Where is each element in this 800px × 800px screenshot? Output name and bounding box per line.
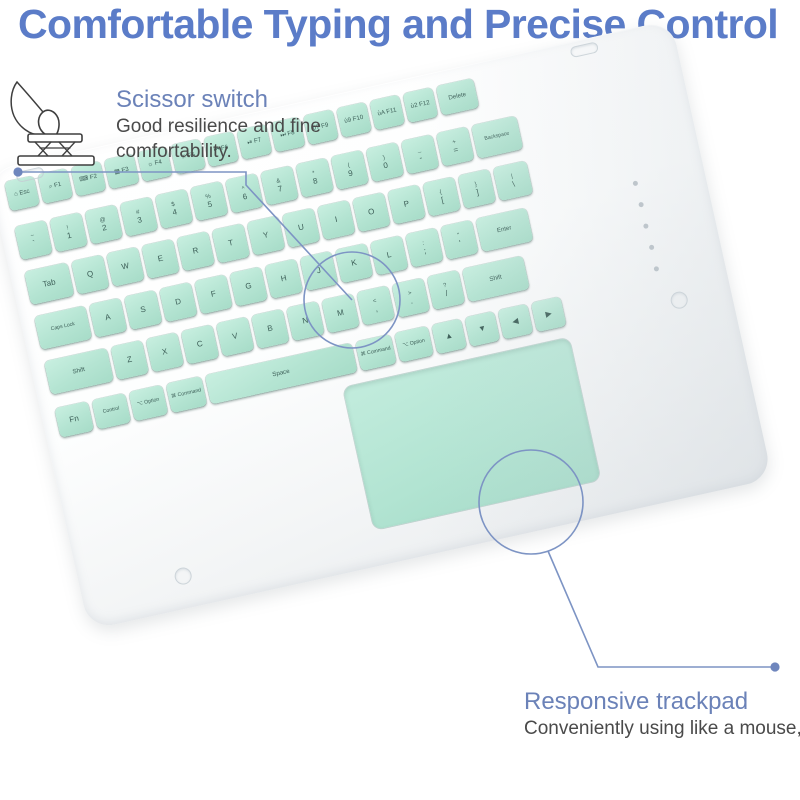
key-legend: Tab <box>42 278 56 289</box>
key-p[interactable]: P <box>387 184 426 224</box>
key-command[interactable]: ⌘ Command <box>166 376 208 413</box>
key-legend: D <box>175 298 182 307</box>
key-legend: ⌨ F2 <box>79 174 98 184</box>
key-legend: ⌘ Command <box>171 389 202 401</box>
key-legend-bottom: / <box>445 289 449 297</box>
key-legend: ⌕ F1 <box>48 182 61 191</box>
key-legend: J <box>316 267 322 276</box>
scissor-switch-heading: Scissor switch <box>116 86 416 114</box>
key-7[interactable]: &7 <box>260 165 299 205</box>
key-2[interactable]: @2 <box>84 204 123 244</box>
key-legend: X <box>161 348 168 357</box>
key-e[interactable]: E <box>141 239 180 279</box>
key-b[interactable]: B <box>251 309 290 349</box>
key-legend: Backspace <box>484 132 510 143</box>
key-s[interactable]: S <box>124 290 163 330</box>
key-6[interactable]: ^6 <box>225 173 264 213</box>
key-legend: ⌂ Esc <box>14 189 31 198</box>
scissor-switch-icon <box>4 78 110 170</box>
key-legend-bottom: ] <box>476 188 480 196</box>
key-key[interactable]: |\ <box>493 161 534 202</box>
status-led-1 <box>633 181 638 186</box>
key-right[interactable]: ▶ <box>531 296 567 332</box>
key-command[interactable]: ⌘ Command <box>355 334 397 371</box>
key-shift[interactable]: Shift <box>44 348 114 395</box>
key-5[interactable]: %5 <box>190 181 229 221</box>
key-shift[interactable]: Shift <box>462 256 530 303</box>
key-g[interactable]: G <box>229 266 268 306</box>
key-legend: U <box>297 223 304 232</box>
key-legend-bottom: 1 <box>66 231 72 240</box>
key-legend: F <box>210 290 217 299</box>
key-legend: ⌥ Option <box>137 398 160 408</box>
key-legend: Control <box>103 407 120 416</box>
key-legend: Fn <box>69 415 80 425</box>
key-legend: R <box>192 247 199 256</box>
key-tab[interactable]: Tab <box>24 262 74 305</box>
key-key[interactable]: >. <box>392 278 431 318</box>
page-title: Comfortable Typing and Precise Control <box>18 0 800 50</box>
key-legend: ▶ <box>545 310 553 319</box>
key-legend-bottom: 5 <box>207 200 213 209</box>
key-legend: C <box>196 340 203 349</box>
key-legend: S <box>140 305 147 314</box>
key-legend: Shift <box>72 367 85 376</box>
trackpad-heading: Responsive trackpad <box>524 688 800 716</box>
key-fn[interactable]: Fn <box>54 401 94 438</box>
key-legend: Shift <box>489 274 502 283</box>
status-led-4 <box>649 245 654 250</box>
key-legend-bottom: ` <box>32 239 36 247</box>
key-legend-bottom: , <box>374 305 378 313</box>
key-legend: Y <box>262 231 269 240</box>
key-3[interactable]: #3 <box>120 197 159 237</box>
key-q[interactable]: Q <box>71 254 110 294</box>
key-legend: G <box>245 282 253 291</box>
key-a[interactable]: A <box>89 298 128 338</box>
key-h[interactable]: H <box>264 259 303 299</box>
key-left[interactable]: ◀ <box>498 304 534 340</box>
key-control[interactable]: Control <box>91 393 131 430</box>
key-legend: E <box>157 254 164 263</box>
key-enter[interactable]: Enter <box>475 208 533 252</box>
key-1[interactable]: !1 <box>49 212 88 252</box>
key-legend-bottom: 4 <box>172 208 178 217</box>
key-j[interactable]: J <box>300 251 339 291</box>
key-legend-bottom: = <box>453 146 459 155</box>
key-up[interactable]: ▲ <box>431 318 467 354</box>
key-z[interactable]: Z <box>110 340 149 380</box>
trackpad-callout: Responsive trackpad Conveniently using l… <box>524 688 800 741</box>
key-legend-bottom: 8 <box>312 177 318 186</box>
key-key[interactable]: <, <box>356 285 395 325</box>
key-legend: ⌥ Option <box>402 339 425 349</box>
trackpad-description: Conveniently using like a mouse, navigat… <box>524 716 800 741</box>
key-o[interactable]: O <box>352 192 391 232</box>
key-r[interactable]: R <box>176 231 215 271</box>
key-c[interactable]: C <box>181 324 220 364</box>
key-key[interactable]: {[ <box>422 177 461 217</box>
key-option[interactable]: ⌥ Option <box>129 385 169 422</box>
key-legend-bottom: [ <box>440 196 444 204</box>
key-legend: O <box>367 208 375 217</box>
key-down[interactable]: ▼ <box>464 311 500 347</box>
key-key[interactable]: ?/ <box>427 270 466 310</box>
foot-right <box>670 291 688 309</box>
key-y[interactable]: Y <box>247 216 286 256</box>
key-option[interactable]: ⌥ Option <box>394 326 434 363</box>
key-n[interactable]: N <box>286 301 325 341</box>
key-key[interactable]: "' <box>440 220 479 260</box>
product-marketing-image: Comfortable Typing and Precise Control ⌂… <box>0 0 800 800</box>
key-key[interactable]: :; <box>405 228 444 268</box>
key-legend: H <box>280 274 287 283</box>
key-legend: ▲ <box>444 332 453 342</box>
key-u[interactable]: U <box>282 208 321 248</box>
key-legend: Z <box>126 356 133 365</box>
foot-bottom-left <box>174 567 192 585</box>
key-legend: I <box>334 216 338 224</box>
key-4[interactable]: $4 <box>155 189 194 229</box>
key-legend: A <box>104 313 111 322</box>
key-legend: T <box>228 239 235 248</box>
key-caps-lock[interactable]: Caps Lock <box>34 305 92 349</box>
key-key[interactable]: ~` <box>14 220 53 260</box>
key-legend: Caps Lock <box>51 322 76 332</box>
scissor-switch-description: Good resilience and fine comfortability. <box>116 114 366 164</box>
key-k[interactable]: K <box>335 243 374 283</box>
key-m[interactable]: M <box>321 293 360 333</box>
key-legend: Space <box>272 369 290 379</box>
key-legend: L <box>386 251 392 260</box>
key-legend-bottom: 7 <box>277 184 283 193</box>
key-w[interactable]: W <box>106 247 145 287</box>
key-legend: Delete <box>448 92 467 102</box>
key-legend-bottom: . <box>410 297 414 305</box>
key-legend: ⌘ Command <box>360 347 391 359</box>
key-legend: W <box>121 262 130 271</box>
key-legend-bottom: 6 <box>242 192 248 201</box>
key-legend: Q <box>86 270 94 279</box>
key-legend: V <box>232 332 239 341</box>
key-legend-bottom: 3 <box>137 216 143 225</box>
key-legend: ◀ <box>512 317 520 326</box>
key-f[interactable]: F <box>194 274 233 314</box>
status-led-5 <box>654 266 659 271</box>
key-i[interactable]: I <box>317 200 356 240</box>
key-legend-bottom: 9 <box>347 169 353 178</box>
key-legend: Enter <box>496 225 512 234</box>
key-key[interactable]: }] <box>458 169 497 209</box>
key-legend-bottom: ; <box>423 247 427 255</box>
key-key[interactable]: += <box>436 126 475 166</box>
key-legend: P <box>403 200 410 209</box>
key-legend: ▦ F3 <box>114 167 130 176</box>
key-x[interactable]: X <box>145 332 184 372</box>
key-legend: ▼ <box>478 324 487 334</box>
key-legend: N <box>302 317 309 326</box>
key-v[interactable]: V <box>216 317 255 357</box>
key-legend-bottom: ' <box>459 239 462 247</box>
key-legend-bottom: \ <box>512 180 516 188</box>
key-legend-bottom: - <box>419 154 423 162</box>
key-d[interactable]: D <box>159 282 198 322</box>
scissor-switch-callout: Scissor switch Good resilience and fine … <box>116 86 416 164</box>
key-legend-bottom: 2 <box>101 223 107 232</box>
key-backspace[interactable]: Backspace <box>471 116 523 159</box>
key-delete[interactable]: Delete <box>436 78 480 116</box>
key-t[interactable]: T <box>211 223 250 263</box>
key-legend: M <box>336 309 344 318</box>
foot-top-right <box>571 43 598 57</box>
status-led-2 <box>638 202 643 207</box>
key-legend: K <box>351 259 358 268</box>
key-legend: B <box>267 324 274 333</box>
status-led-3 <box>644 224 649 229</box>
keyboard-illustration: ⌂ Esc⌕ F1⌨ F2▦ F3☼ F4☀ F5⏮ F6⏯ F7⏭ F8ὐ7 … <box>0 60 800 760</box>
key-l[interactable]: L <box>370 235 409 275</box>
